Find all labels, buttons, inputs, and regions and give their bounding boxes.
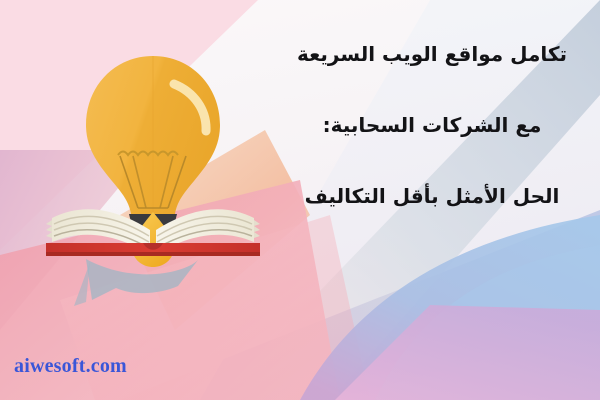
book-shadow-tail <box>74 262 90 306</box>
book-page-edge-right <box>254 220 260 242</box>
headline-line-1: تكامل مواقع الويب السريعة <box>282 42 582 67</box>
illustration-lightbulb-over-open-book <box>28 38 278 308</box>
headline-line-3: الحل الأمثل بأقل التكاليف <box>282 184 582 209</box>
headline-block: تكامل مواقع الويب السريعة مع الشركات الس… <box>282 42 582 209</box>
book-shadow-map <box>86 259 198 300</box>
headline-line-2: مع الشركات السحابية: <box>282 113 582 138</box>
promotional-banner: تكامل مواقع الويب السريعة مع الشركات الس… <box>0 0 600 400</box>
book-page-edge-left <box>46 220 52 242</box>
lightbulb-glass-group <box>86 56 220 214</box>
watermark-aiwesoft: aiwesoft.com <box>14 355 127 378</box>
book-cover-shadow <box>46 252 260 256</box>
